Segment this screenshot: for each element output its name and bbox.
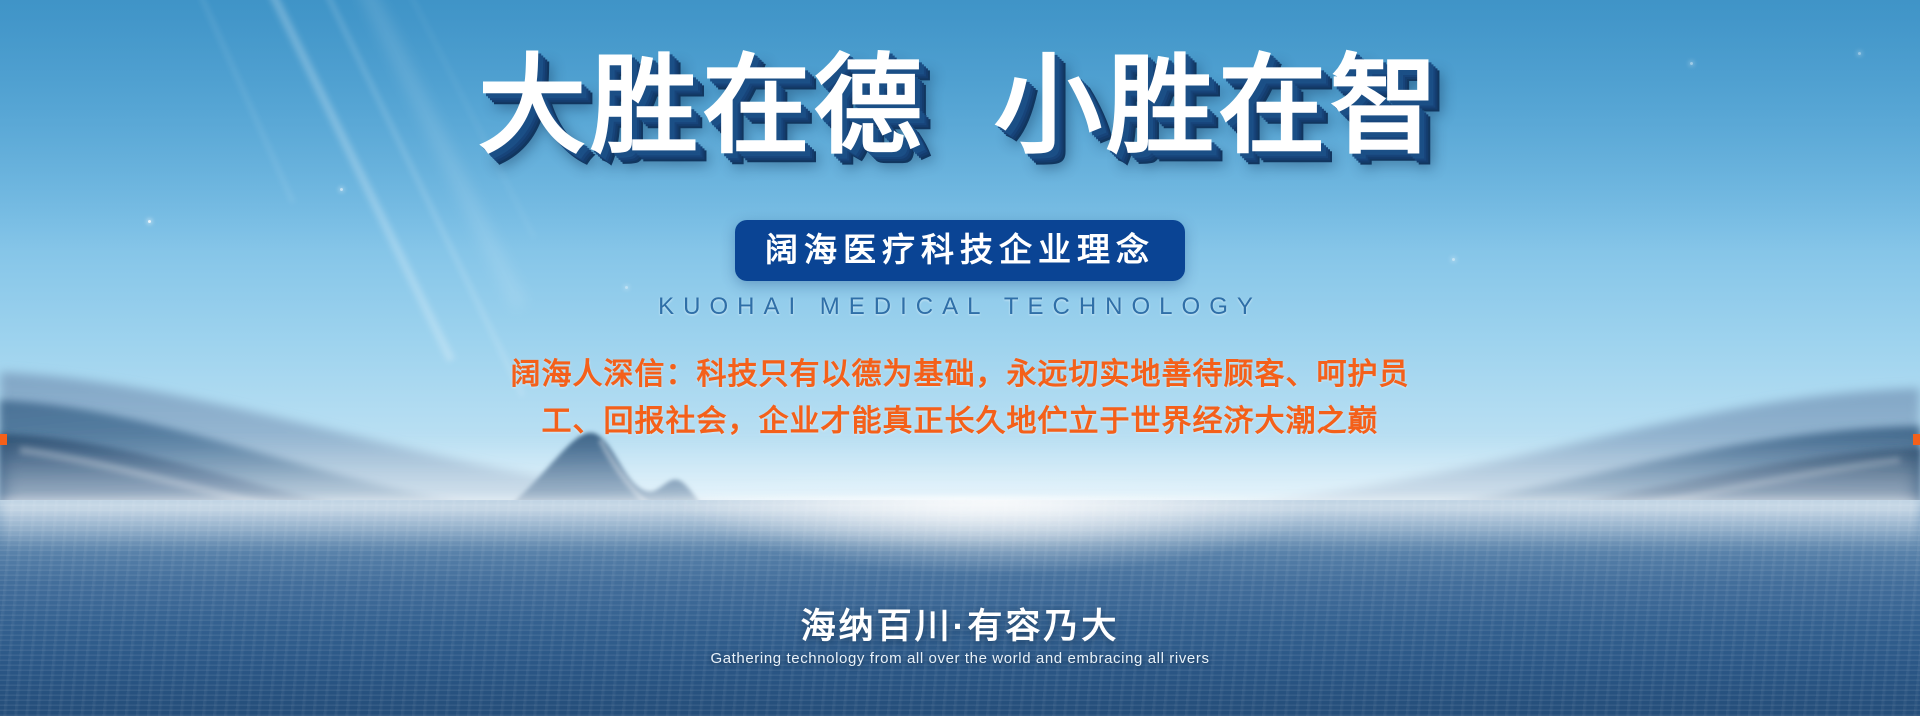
philosophy-statement-line-1: 阔海人深信：科技只有以德为基础，永远切实地善待顾客、呵护员	[430, 352, 1490, 399]
motto-chinese: 海纳百川·有容乃大	[0, 598, 1920, 649]
company-philosophy-badge: 阔海医疗科技企业理念	[735, 220, 1185, 281]
philosophy-statement-line-2: 工、回报社会，企业才能真正长久地伫立于世界经济大潮之巅	[430, 399, 1490, 446]
philosophy-statement: 阔海人深信：科技只有以德为基础，永远切实地善待顾客、呵护员 工、回报社会，企业才…	[430, 352, 1490, 445]
motto-english: Gathering technology from all over the w…	[0, 650, 1920, 667]
kuohai-philosophy-banner: 大胜在德 小胜在智 阔海医疗科技企业理念 KUOHAI MEDICAL TECH…	[0, 0, 1920, 716]
banner-content: 大胜在德 小胜在智 阔海医疗科技企业理念 KUOHAI MEDICAL TECH…	[0, 0, 1920, 716]
company-name-english: KUOHAI MEDICAL TECHNOLOGY	[0, 293, 1920, 321]
headline: 大胜在德 小胜在智	[0, 46, 1920, 167]
